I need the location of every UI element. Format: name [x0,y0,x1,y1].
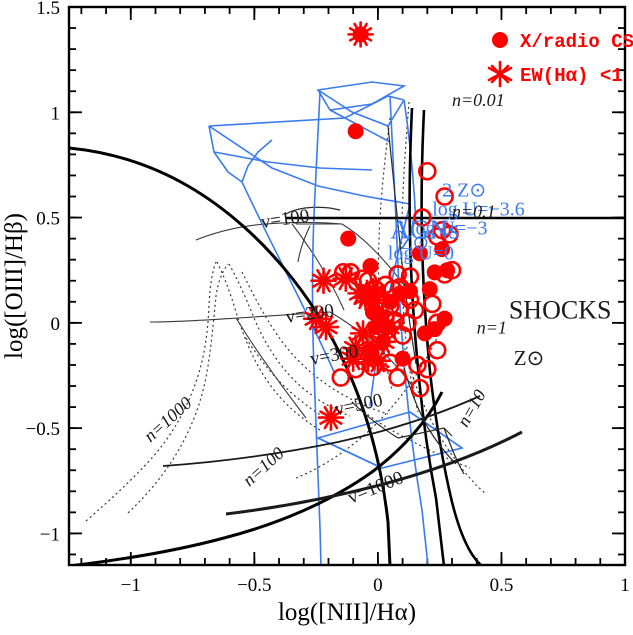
y-tick-label: 0 [51,314,61,335]
plot-annotation: SHOCKS [509,296,612,325]
plot-annotation: n=0.1 [452,202,496,222]
plot-annotation: n=1 [477,317,507,337]
y-axis-title: log([OIII]/Hβ) [1,213,28,359]
legend-label-ewha: EW(Hα) <1 [520,65,623,87]
y-tick-label: 1.5 [36,0,60,19]
y-tick-label: −0.5 [26,419,60,440]
x-tick-label: −0.5 [237,575,271,596]
data-point-asterisk [349,22,373,46]
y-tick-label: 1 [51,103,61,124]
y-tick-label: −1 [40,524,60,545]
plot-annotation: n=10 [453,386,490,430]
data-point-open [424,296,440,312]
legend-label-xradio: X/radio CS [520,31,633,53]
plot-canvas: −1−0.500.51−1−0.500.511.5 [0,0,633,635]
x-tick-label: 0 [373,575,383,596]
x-tick-label: 1 [620,575,630,596]
x-axis-title: log([NII]/Hα) [278,599,416,626]
x-tick-label: 0.5 [490,575,514,596]
plot-annotation: v=500 [333,390,385,421]
plot-annotation: v=1000 [345,467,407,508]
plot-annotation: n=0.01 [452,90,505,110]
data-point-open [333,370,349,386]
data-point-asterisk [312,269,336,293]
data-point-filled [422,281,438,297]
plot-annotation: Z⊙ [514,346,544,370]
plot-annotation: log U=0 [388,243,454,265]
legend-marker-filled-circle [492,32,508,48]
data-point-open [419,361,435,377]
plot-annotation: n=100 [239,443,288,490]
bpt-diagram-figure: −1−0.500.51−1−0.500.511.5 [0,0,633,635]
data-point-open [429,342,445,358]
x-tick-label: −1 [121,575,141,596]
legend: X/radio CS EW(Hα) <1 [489,31,633,87]
plot-annotation: v=100 [260,205,311,233]
legend-marker-asterisk-star [489,62,511,86]
data-point-filled [348,123,364,139]
y-tick-label: 0.5 [36,209,60,230]
data-point-filled [340,231,356,247]
data-point-open [390,370,406,386]
